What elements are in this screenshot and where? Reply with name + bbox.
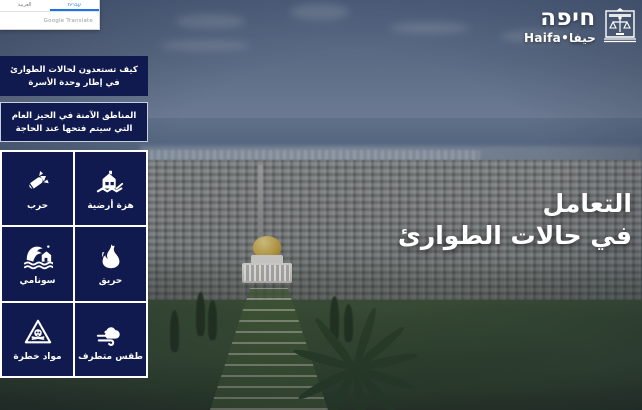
tile-war[interactable]: حرب — [1, 151, 74, 226]
tile-extreme-weather[interactable]: طقس متطرف — [74, 302, 147, 377]
banner-line1: المناطق الآمنة في الحيز العام — [9, 110, 139, 122]
banner-line2: في إطار وحدة الأسرة — [8, 77, 140, 89]
tile-label: سونامي — [20, 276, 56, 286]
tile-label: مواد خطرة — [13, 352, 61, 362]
logo-hebrew: חיפה — [524, 7, 596, 30]
tile-label: حرب — [27, 201, 48, 211]
tile-earthquake[interactable]: هزة أرضية — [74, 151, 147, 226]
extreme-weather-icon — [96, 317, 126, 347]
banner-line1: كيف تستعدون لحالات الطوارئ — [8, 64, 140, 76]
translate-tab-arabic[interactable]: العربية — [0, 0, 50, 11]
earthquake-icon — [96, 166, 126, 196]
haifa-city-emblem-icon — [603, 6, 637, 44]
logo-wordmark: חיפה Haifa•حيفا — [524, 7, 596, 44]
tile-hazardous-materials[interactable]: مواد خطرة — [1, 302, 74, 377]
google-translate-widget[interactable]: العربية עברית Google Translate — [0, 0, 100, 30]
hazmat-icon — [23, 317, 53, 347]
fire-icon — [96, 241, 126, 271]
tsunami-icon — [23, 241, 53, 271]
tile-label: هزة أرضية — [87, 201, 133, 211]
tile-label: حريق — [99, 276, 123, 286]
translate-tab-hebrew[interactable]: עברית — [50, 0, 100, 11]
emergency-category-grid: هزة أرضية حرب حريق — [0, 150, 148, 378]
emergency-navigation-panel: كيف تستعدون لحالات الطوارئ في إطار وحدة … — [0, 56, 148, 386]
missile-icon — [23, 166, 53, 196]
google-translate-brand: Google Translate — [0, 12, 99, 29]
family-preparedness-banner[interactable]: كيف تستعدون لحالات الطوارئ في إطار وحدة … — [0, 56, 148, 96]
tile-fire[interactable]: حريق — [74, 226, 147, 301]
public-shelters-banner[interactable]: المناطق الآمنة في الحيز العام التي سيتم … — [0, 102, 148, 142]
banner-line2: التي سيتم فتحها عند الحاجة — [9, 123, 139, 135]
page-title-line1: التعامل — [398, 188, 632, 220]
translate-language-tabs: العربية עברית — [0, 0, 99, 12]
tile-label: طقس متطرف — [78, 352, 143, 362]
page-title: التعامل في حالات الطوارئ — [398, 188, 632, 252]
tile-tsunami[interactable]: سونامي — [1, 226, 74, 301]
logo-latin-arabic: Haifa•حيفا — [524, 32, 596, 44]
page-title-line2: في حالات الطوارئ — [398, 220, 632, 252]
haifa-municipality-logo[interactable]: חיפה Haifa•حيفا — [524, 4, 636, 46]
